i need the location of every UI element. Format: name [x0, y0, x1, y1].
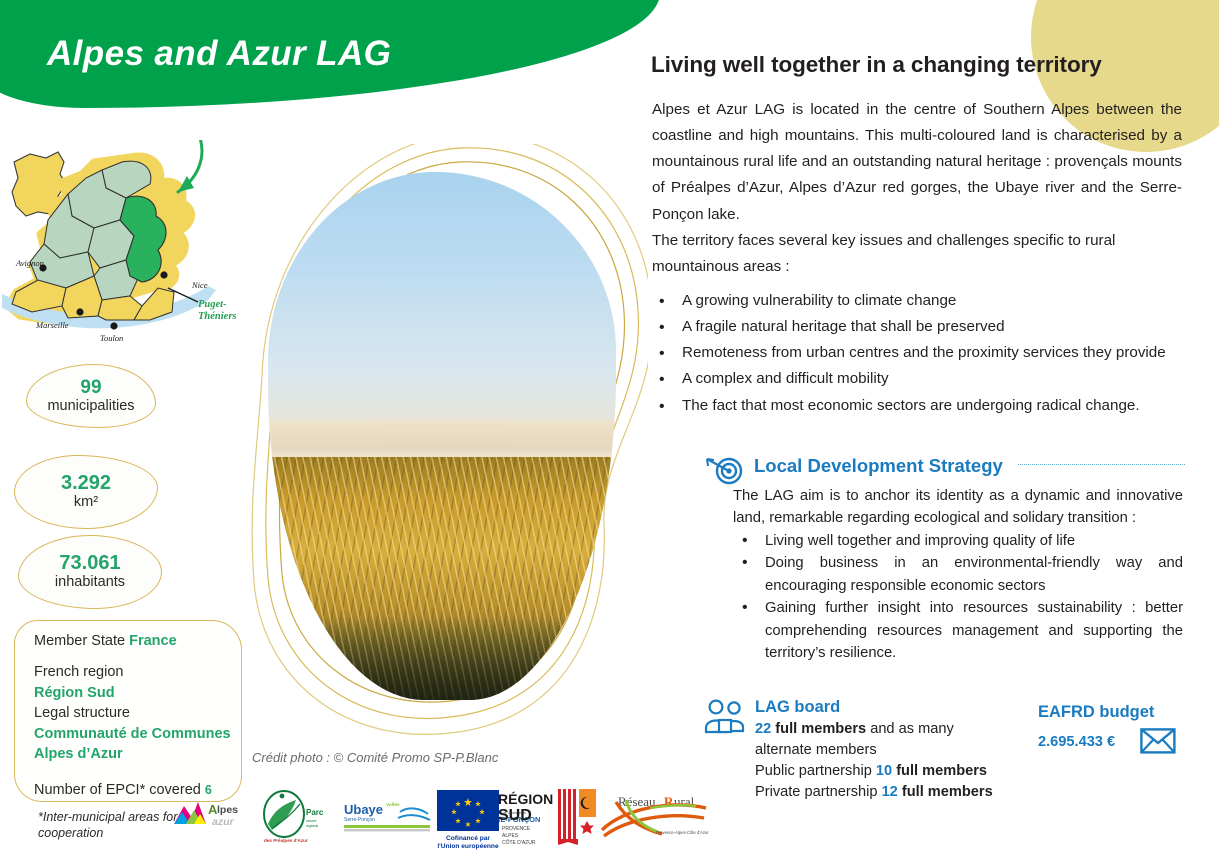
svg-text:Provence-Alpes-Côte d'Azur: Provence-Alpes-Côte d'Azur — [656, 830, 709, 835]
svg-text:Serre-Ponçon: Serre-Ponçon — [344, 817, 375, 823]
public-partnership-label: Public partnership — [755, 763, 872, 779]
map-label-nice: Nice — [191, 280, 208, 290]
eafrd-budget-block: EAFRD budget 2.695.433 € — [1038, 703, 1208, 750]
stat-label: km² — [74, 494, 98, 511]
member-state-label: Member State — [34, 633, 125, 649]
strategy-point: Living well together and improving quali… — [733, 530, 1183, 552]
strategy-title: Local Development Strategy — [754, 455, 1003, 477]
eafrd-value: 2.695.433 € — [1038, 734, 1208, 750]
private-partnership-label: Private partnership — [755, 784, 878, 800]
strategy-body: The LAG aim is to anchor its identity as… — [733, 485, 1183, 665]
list-item: A fragile natural heritage that shall be… — [682, 314, 1184, 340]
svg-text:Parc: Parc — [306, 808, 324, 817]
list-item: A complex and difficult mobility — [682, 366, 1184, 392]
eu-flag-logo: Cofinancé par l'Union européenne — [437, 790, 499, 857]
hero-photo-area — [228, 144, 648, 756]
lag-board-total-label: full members — [775, 721, 866, 737]
legal-structure-value-line1: Communauté de Communes — [34, 725, 249, 744]
svg-text:Ubaye: Ubaye — [344, 802, 383, 817]
strategy-point: Doing business in an environmental-frien… — [733, 552, 1183, 597]
svg-text:Cofinancé par: Cofinancé par — [446, 835, 490, 842]
territory-map: Avignon Marseille Toulon Nice Puget- Thé… — [2, 140, 254, 355]
strategy-point: Gaining further insight into resources s… — [733, 597, 1183, 664]
lag-board-public-row: Public partnership 10 full members — [755, 761, 1003, 782]
member-state-row: Member State France — [34, 632, 249, 651]
list-item: The fact that most economic sectors are … — [682, 393, 1184, 419]
reseau-rural-logo: Réseau R ural Provence-Alpes-Côte d'Azur — [600, 790, 710, 849]
envelope-icon[interactable] — [1140, 728, 1176, 759]
svg-text:Vallée: Vallée — [386, 802, 400, 808]
intro-paragraph-1: Alpes et Azur LAG is located in the cent… — [652, 97, 1182, 228]
svg-text:PROVENCE: PROVENCE — [502, 826, 531, 832]
lag-board-total-count: 22 — [755, 721, 771, 737]
city-dot-nice — [160, 271, 167, 278]
photo-cloud-band — [268, 420, 616, 452]
svg-text:des Préalpes d'Azur: des Préalpes d'Azur — [264, 838, 308, 843]
ubaye-serre-poncon-logo: Ubaye Vallée Serre-Ponçon — [342, 800, 436, 843]
svg-text:naturel: naturel — [306, 819, 317, 823]
stat-inhabitants: 73.061 inhabitants — [18, 535, 162, 609]
stat-value: 73.061 — [59, 553, 120, 574]
svg-text:CÔTE D'AZUR: CÔTE D'AZUR — [502, 839, 536, 846]
region-sud-logo: RÉGION SUD PROVENCE ALPES CÔTE D'AZUR — [496, 787, 596, 854]
photo-sky — [268, 172, 616, 457]
public-partnership-count: 10 — [876, 763, 892, 779]
private-partnership-members: full members — [902, 784, 993, 800]
page-title: Alpes and Azur LAG — [47, 34, 391, 74]
svg-text:SUD: SUD — [498, 807, 532, 824]
main-heading: Living well together in a changing terri… — [651, 52, 1191, 78]
alpes-azur-logo: A lpes azur — [172, 798, 242, 837]
svg-text:ALPES: ALPES — [502, 833, 519, 839]
lag-factsheet-page: Alpes and Azur LAG — [0, 0, 1219, 859]
map-label-toulon: Toulon — [100, 333, 123, 343]
strategy-intro: The LAG aim is to anchor its identity as… — [733, 485, 1183, 530]
stat-value: 99 — [80, 378, 101, 398]
member-state-value: France — [129, 633, 177, 649]
lag-board-private-row: Private partnership 12 full members — [755, 782, 1003, 803]
svg-text:RÉGION: RÉGION — [498, 791, 553, 807]
map-label-marseille: Marseille — [35, 320, 69, 330]
parc-prealpes-logo: Parc naturel régional des Préalpes d'Azu… — [262, 788, 328, 853]
strategy-dotted-rule — [1018, 464, 1185, 465]
eafrd-title: EAFRD budget — [1038, 703, 1208, 722]
stat-municipalities: 99 municipalities — [26, 364, 156, 428]
stat-label: municipalities — [47, 398, 134, 415]
list-item: A growing vulnerability to climate chang… — [682, 288, 1184, 314]
list-item: Remoteness from urban centres and the pr… — [682, 340, 1184, 366]
map-label-lag-line1: Puget- — [198, 299, 227, 310]
left-sidebar: Avignon Marseille Toulon Nice Puget- Thé… — [0, 0, 250, 859]
city-dot-toulon — [110, 322, 117, 329]
target-icon — [705, 456, 745, 491]
legal-structure-label: Legal structure — [34, 704, 249, 723]
intro-text: Alpes et Azur LAG is located in the cent… — [652, 97, 1182, 280]
lag-board-total-row: 22 full members and as many alternate me… — [755, 719, 1003, 761]
lag-board-title: LAG board — [755, 698, 1003, 717]
private-partnership-count: 12 — [882, 784, 898, 800]
epci-footnote: *Inter-municipal areas for cooperation — [38, 810, 188, 841]
stat-area: 3.292 km² — [14, 455, 158, 529]
stat-label: inhabitants — [55, 574, 125, 591]
member-info-content: Member State France French region Région… — [34, 632, 249, 800]
french-region-label: French region — [34, 663, 249, 682]
map-label-lag-line2: Théniers — [198, 311, 237, 322]
svg-text:régional: régional — [306, 824, 318, 828]
intro-paragraph-2: The territory faces several key issues a… — [652, 228, 1182, 280]
svg-text:azur: azur — [212, 816, 235, 828]
strategy-header: Local Development Strategy — [705, 455, 1185, 477]
svg-text:l'Union européenne: l'Union européenne — [437, 843, 499, 850]
city-dot-marseille — [76, 308, 83, 315]
french-region-value: Région Sud — [34, 684, 249, 703]
public-partnership-members: full members — [896, 763, 987, 779]
map-label-avignon: Avignon — [15, 258, 44, 268]
local-development-strategy-section: Local Development Strategy The LAG aim i… — [705, 455, 1185, 665]
svg-text:lpes: lpes — [217, 804, 238, 816]
lag-board-block: LAG board 22 full members and as many al… — [703, 698, 1003, 803]
photo-grass-shadow — [268, 616, 616, 700]
map-svg: Avignon Marseille Toulon Nice Puget- Thé… — [2, 140, 254, 355]
legal-structure-value-line2: Alpes d’Azur — [34, 745, 249, 764]
challenges-ul: A growing vulnerability to climate chang… — [652, 288, 1184, 419]
lag-board-details: 22 full members and as many alternate me… — [755, 719, 1003, 803]
challenges-list: A growing vulnerability to climate chang… — [652, 288, 1184, 419]
stat-value: 3.292 — [61, 473, 111, 494]
hero-photo — [268, 172, 616, 700]
photo-credit: Crédit photo : © Comité Promo SP-P.Blanc — [252, 750, 498, 765]
